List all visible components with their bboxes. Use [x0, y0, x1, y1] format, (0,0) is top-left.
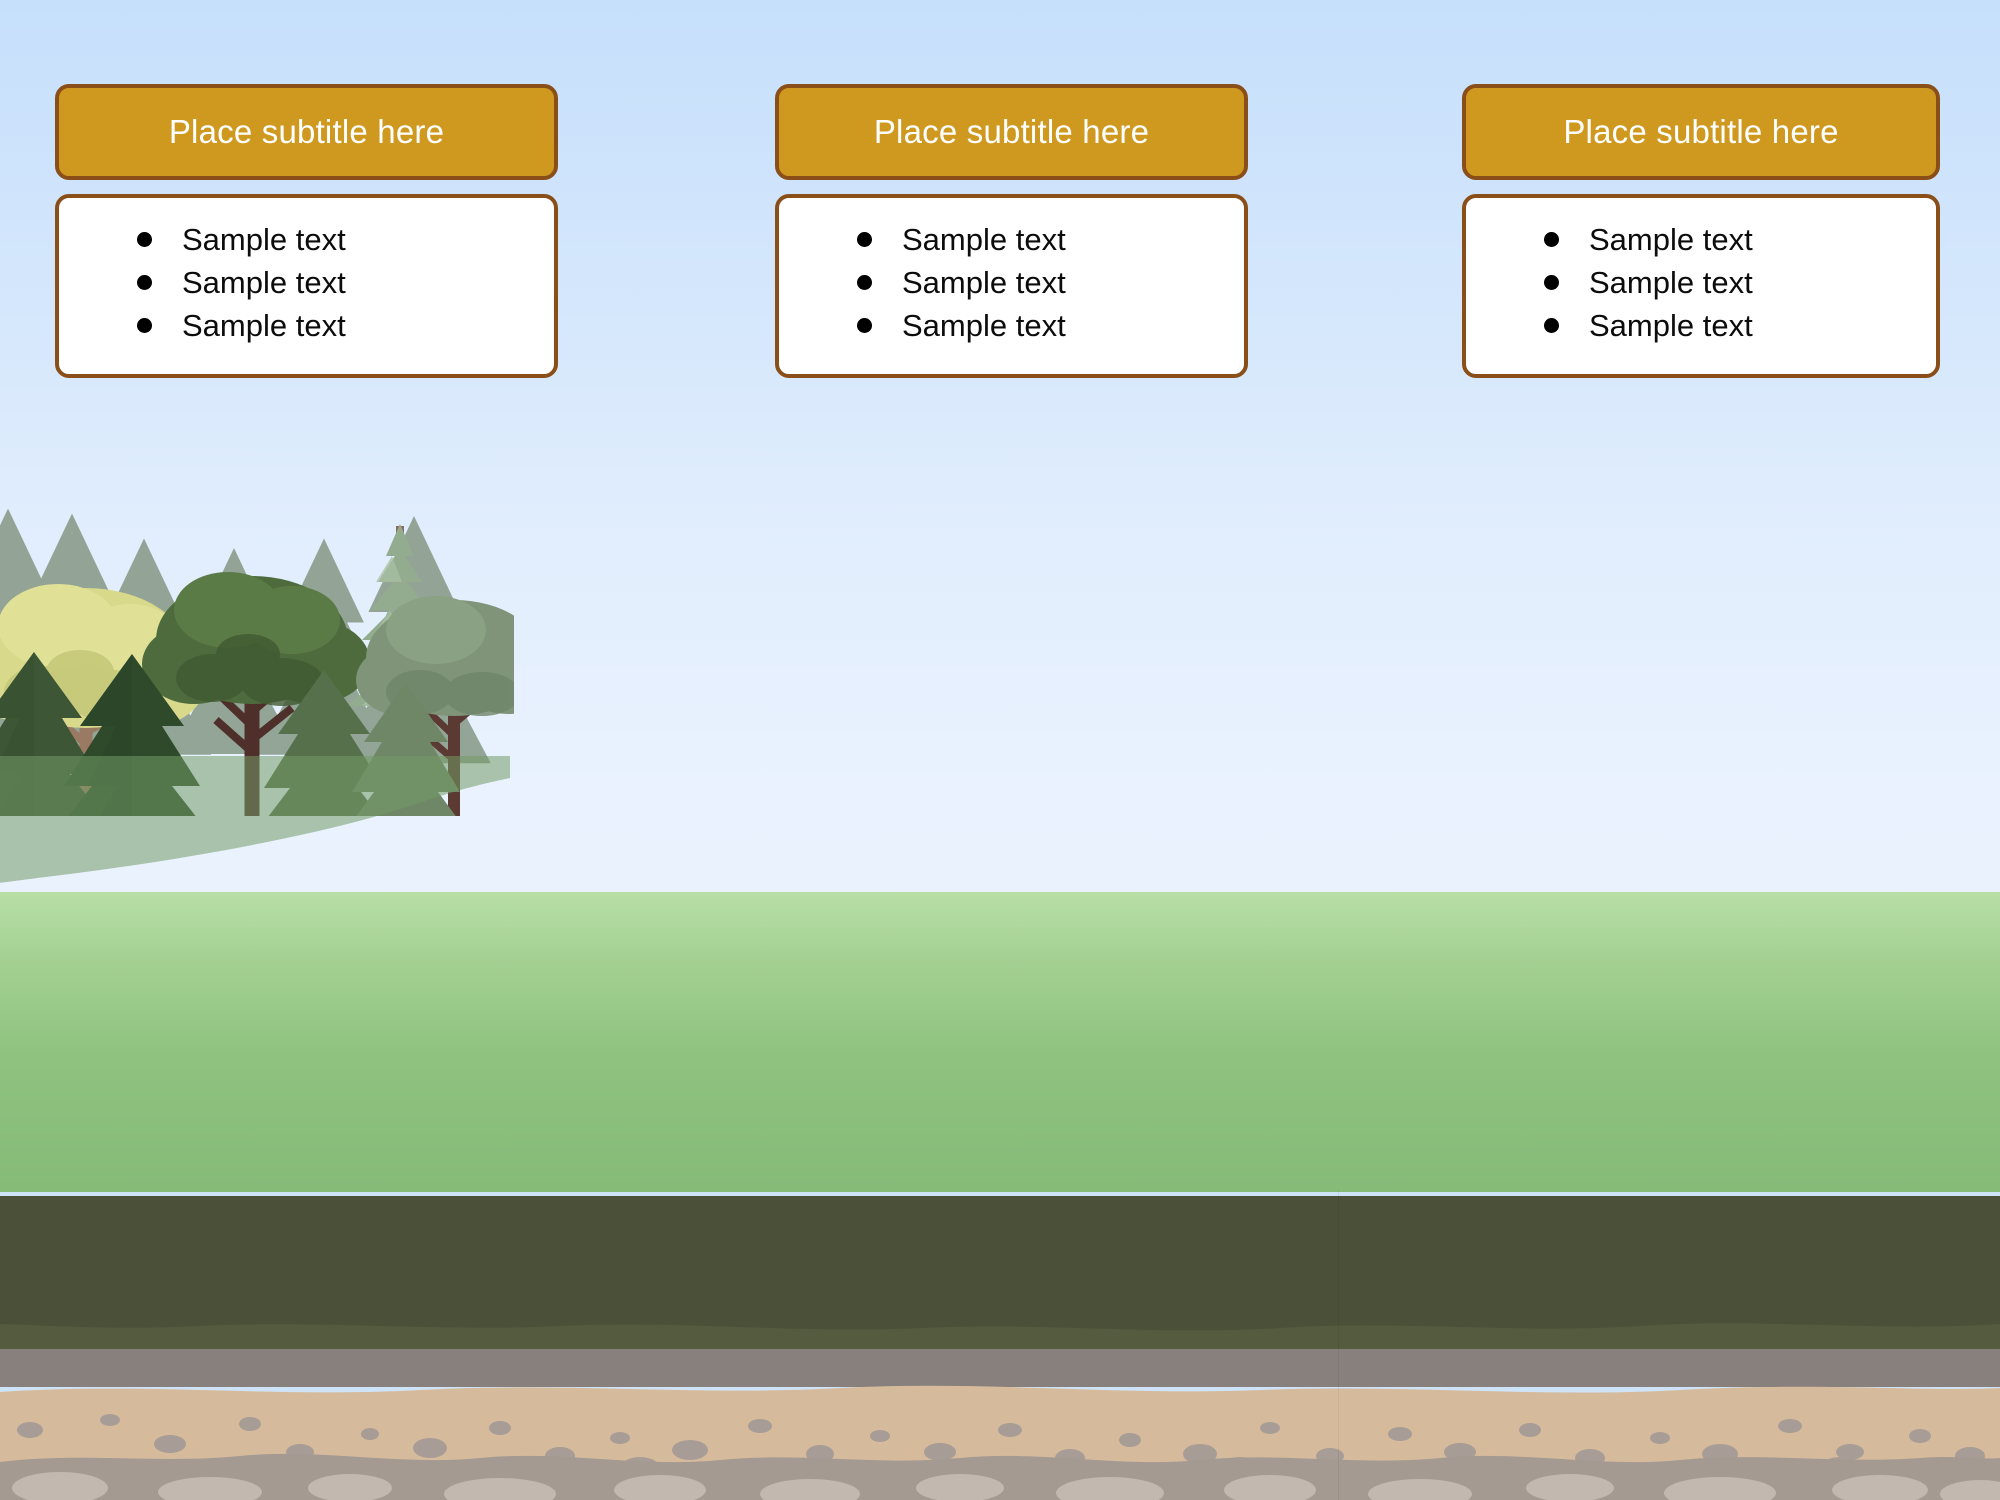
bullet-dot-icon — [857, 318, 872, 333]
list-item-label: Sample text — [182, 218, 346, 261]
bullet-dot-icon — [857, 275, 872, 290]
forest-illustration — [0, 396, 514, 816]
card-2-bullet-list: Sample text Sample text Sample text — [779, 218, 1244, 347]
sand-wave — [0, 1376, 2000, 1414]
list-item-label: Sample text — [182, 261, 346, 304]
bullet-dot-icon — [137, 318, 152, 333]
list-item-label: Sample text — [902, 218, 1066, 261]
card-2-header-label: Place subtitle here — [874, 113, 1149, 151]
bullet-dot-icon — [1544, 318, 1559, 333]
card-2-body[interactable]: Sample text Sample text Sample text — [775, 194, 1248, 378]
bullet-dot-icon — [137, 232, 152, 247]
list-item[interactable]: Sample text — [779, 304, 1244, 347]
slide-canvas: Place subtitle here Sample text Sample t… — [0, 0, 2000, 1500]
card-3-bullet-list: Sample text Sample text Sample text — [1466, 218, 1936, 347]
content-card-3: Place subtitle here Sample text Sample t… — [1462, 84, 1940, 378]
list-item-label: Sample text — [902, 261, 1066, 304]
list-item[interactable]: Sample text — [59, 304, 554, 347]
forest-shadow — [0, 756, 510, 896]
list-item[interactable]: Sample text — [59, 261, 554, 304]
list-item-label: Sample text — [1589, 218, 1753, 261]
bullet-dot-icon — [137, 275, 152, 290]
list-item-label: Sample text — [1589, 261, 1753, 304]
list-item[interactable]: Sample text — [1466, 261, 1936, 304]
card-3-header-label: Place subtitle here — [1563, 113, 1838, 151]
content-card-2: Place subtitle here Sample text Sample t… — [775, 84, 1248, 378]
list-item[interactable]: Sample text — [1466, 304, 1936, 347]
list-item-label: Sample text — [902, 304, 1066, 347]
card-3-header[interactable]: Place subtitle here — [1462, 84, 1940, 180]
list-item[interactable]: Sample text — [779, 218, 1244, 261]
strata-seam — [1338, 1190, 1339, 1500]
bullet-dot-icon — [1544, 275, 1559, 290]
card-1-header[interactable]: Place subtitle here — [55, 84, 558, 180]
card-3-body[interactable]: Sample text Sample text Sample text — [1462, 194, 1940, 378]
bullet-dot-icon — [1544, 232, 1559, 247]
card-2-header[interactable]: Place subtitle here — [775, 84, 1248, 180]
list-item[interactable]: Sample text — [779, 261, 1244, 304]
card-1-header-label: Place subtitle here — [169, 113, 444, 151]
card-1-body[interactable]: Sample text Sample text Sample text — [55, 194, 558, 378]
rock-layer — [0, 1448, 2000, 1500]
bullet-dot-icon — [857, 232, 872, 247]
grass-layer — [0, 892, 2000, 1192]
list-item[interactable]: Sample text — [59, 218, 554, 261]
list-item-label: Sample text — [182, 304, 346, 347]
list-item[interactable]: Sample text — [1466, 218, 1936, 261]
list-item-label: Sample text — [1589, 304, 1753, 347]
content-card-1: Place subtitle here Sample text Sample t… — [55, 84, 558, 378]
card-1-bullet-list: Sample text Sample text Sample text — [59, 218, 554, 347]
